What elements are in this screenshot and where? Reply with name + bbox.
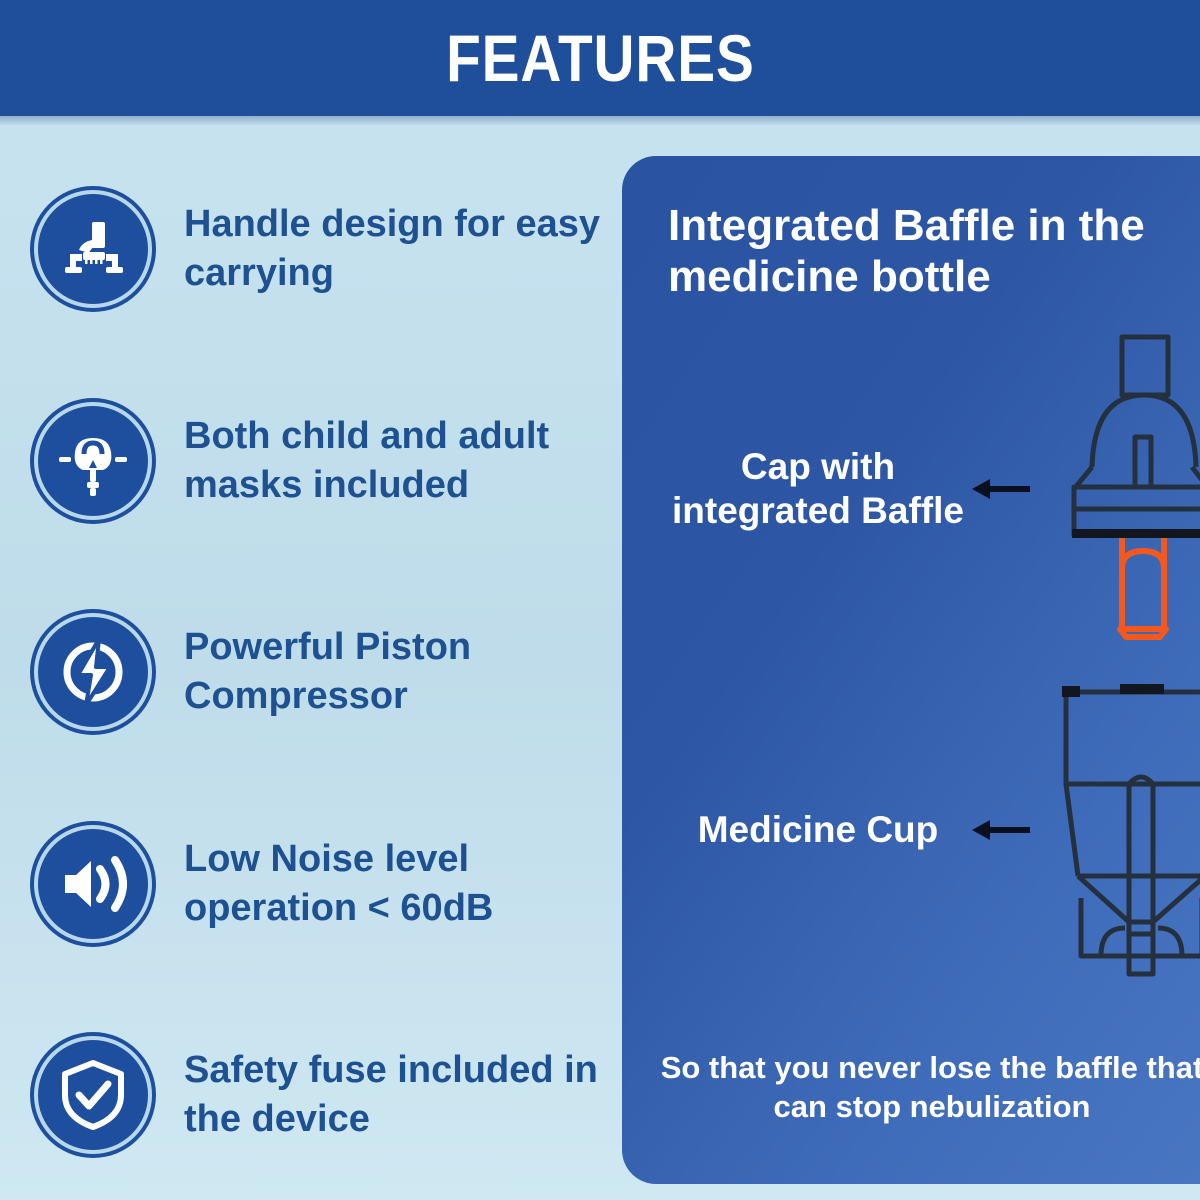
feature-label: Powerful Piston Compressor [184, 623, 604, 720]
feature-label: Low Noise level operation < 60dB [184, 835, 604, 932]
integrated-baffle-panel: Integrated Baffle in the medicine bottle… [622, 156, 1200, 1184]
header-shadow [0, 116, 1200, 126]
panel-footer-caption: So that you never lose the baffle that c… [622, 1049, 1200, 1126]
list-item: Both child and adult masks included [0, 386, 620, 536]
medicine-cup-diagram [1034, 680, 1200, 980]
cup-callout-row: Medicine Cup [668, 680, 1196, 980]
cap-callout-label: Cap with integrated Baffle [668, 445, 968, 534]
feature-label: Safety fuse included in the device [184, 1046, 604, 1143]
nebulizer-mask-icon [34, 402, 152, 520]
shield-check-icon [34, 1036, 152, 1154]
list-item: Low Noise level operation < 60dB [0, 809, 620, 959]
list-item: Safety fuse included in the device [0, 1020, 620, 1170]
list-item: Handle design for easy carrying [0, 174, 620, 324]
features-infographic: FEATURES [0, 0, 1200, 1200]
handle-grip-icon [34, 190, 152, 308]
lightning-bolt-icon [34, 613, 152, 731]
cap-with-baffle-diagram [1034, 329, 1200, 649]
left-arrow-icon [968, 474, 1034, 504]
feature-list: Handle design for easy carrying [0, 126, 620, 1200]
header-banner: FEATURES [0, 0, 1200, 116]
feature-label: Handle design for easy carrying [184, 200, 604, 297]
speaker-volume-icon [34, 825, 152, 943]
page-title: FEATURES [446, 25, 755, 91]
feature-label: Both child and adult masks included [184, 412, 604, 509]
cap-callout-row: Cap with integrated Baffle [668, 324, 1196, 654]
list-item: Powerful Piston Compressor [0, 597, 620, 747]
left-arrow-icon [968, 815, 1034, 845]
panel-title: Integrated Baffle in the medicine bottle [668, 200, 1178, 302]
cup-callout-label: Medicine Cup [668, 808, 968, 852]
